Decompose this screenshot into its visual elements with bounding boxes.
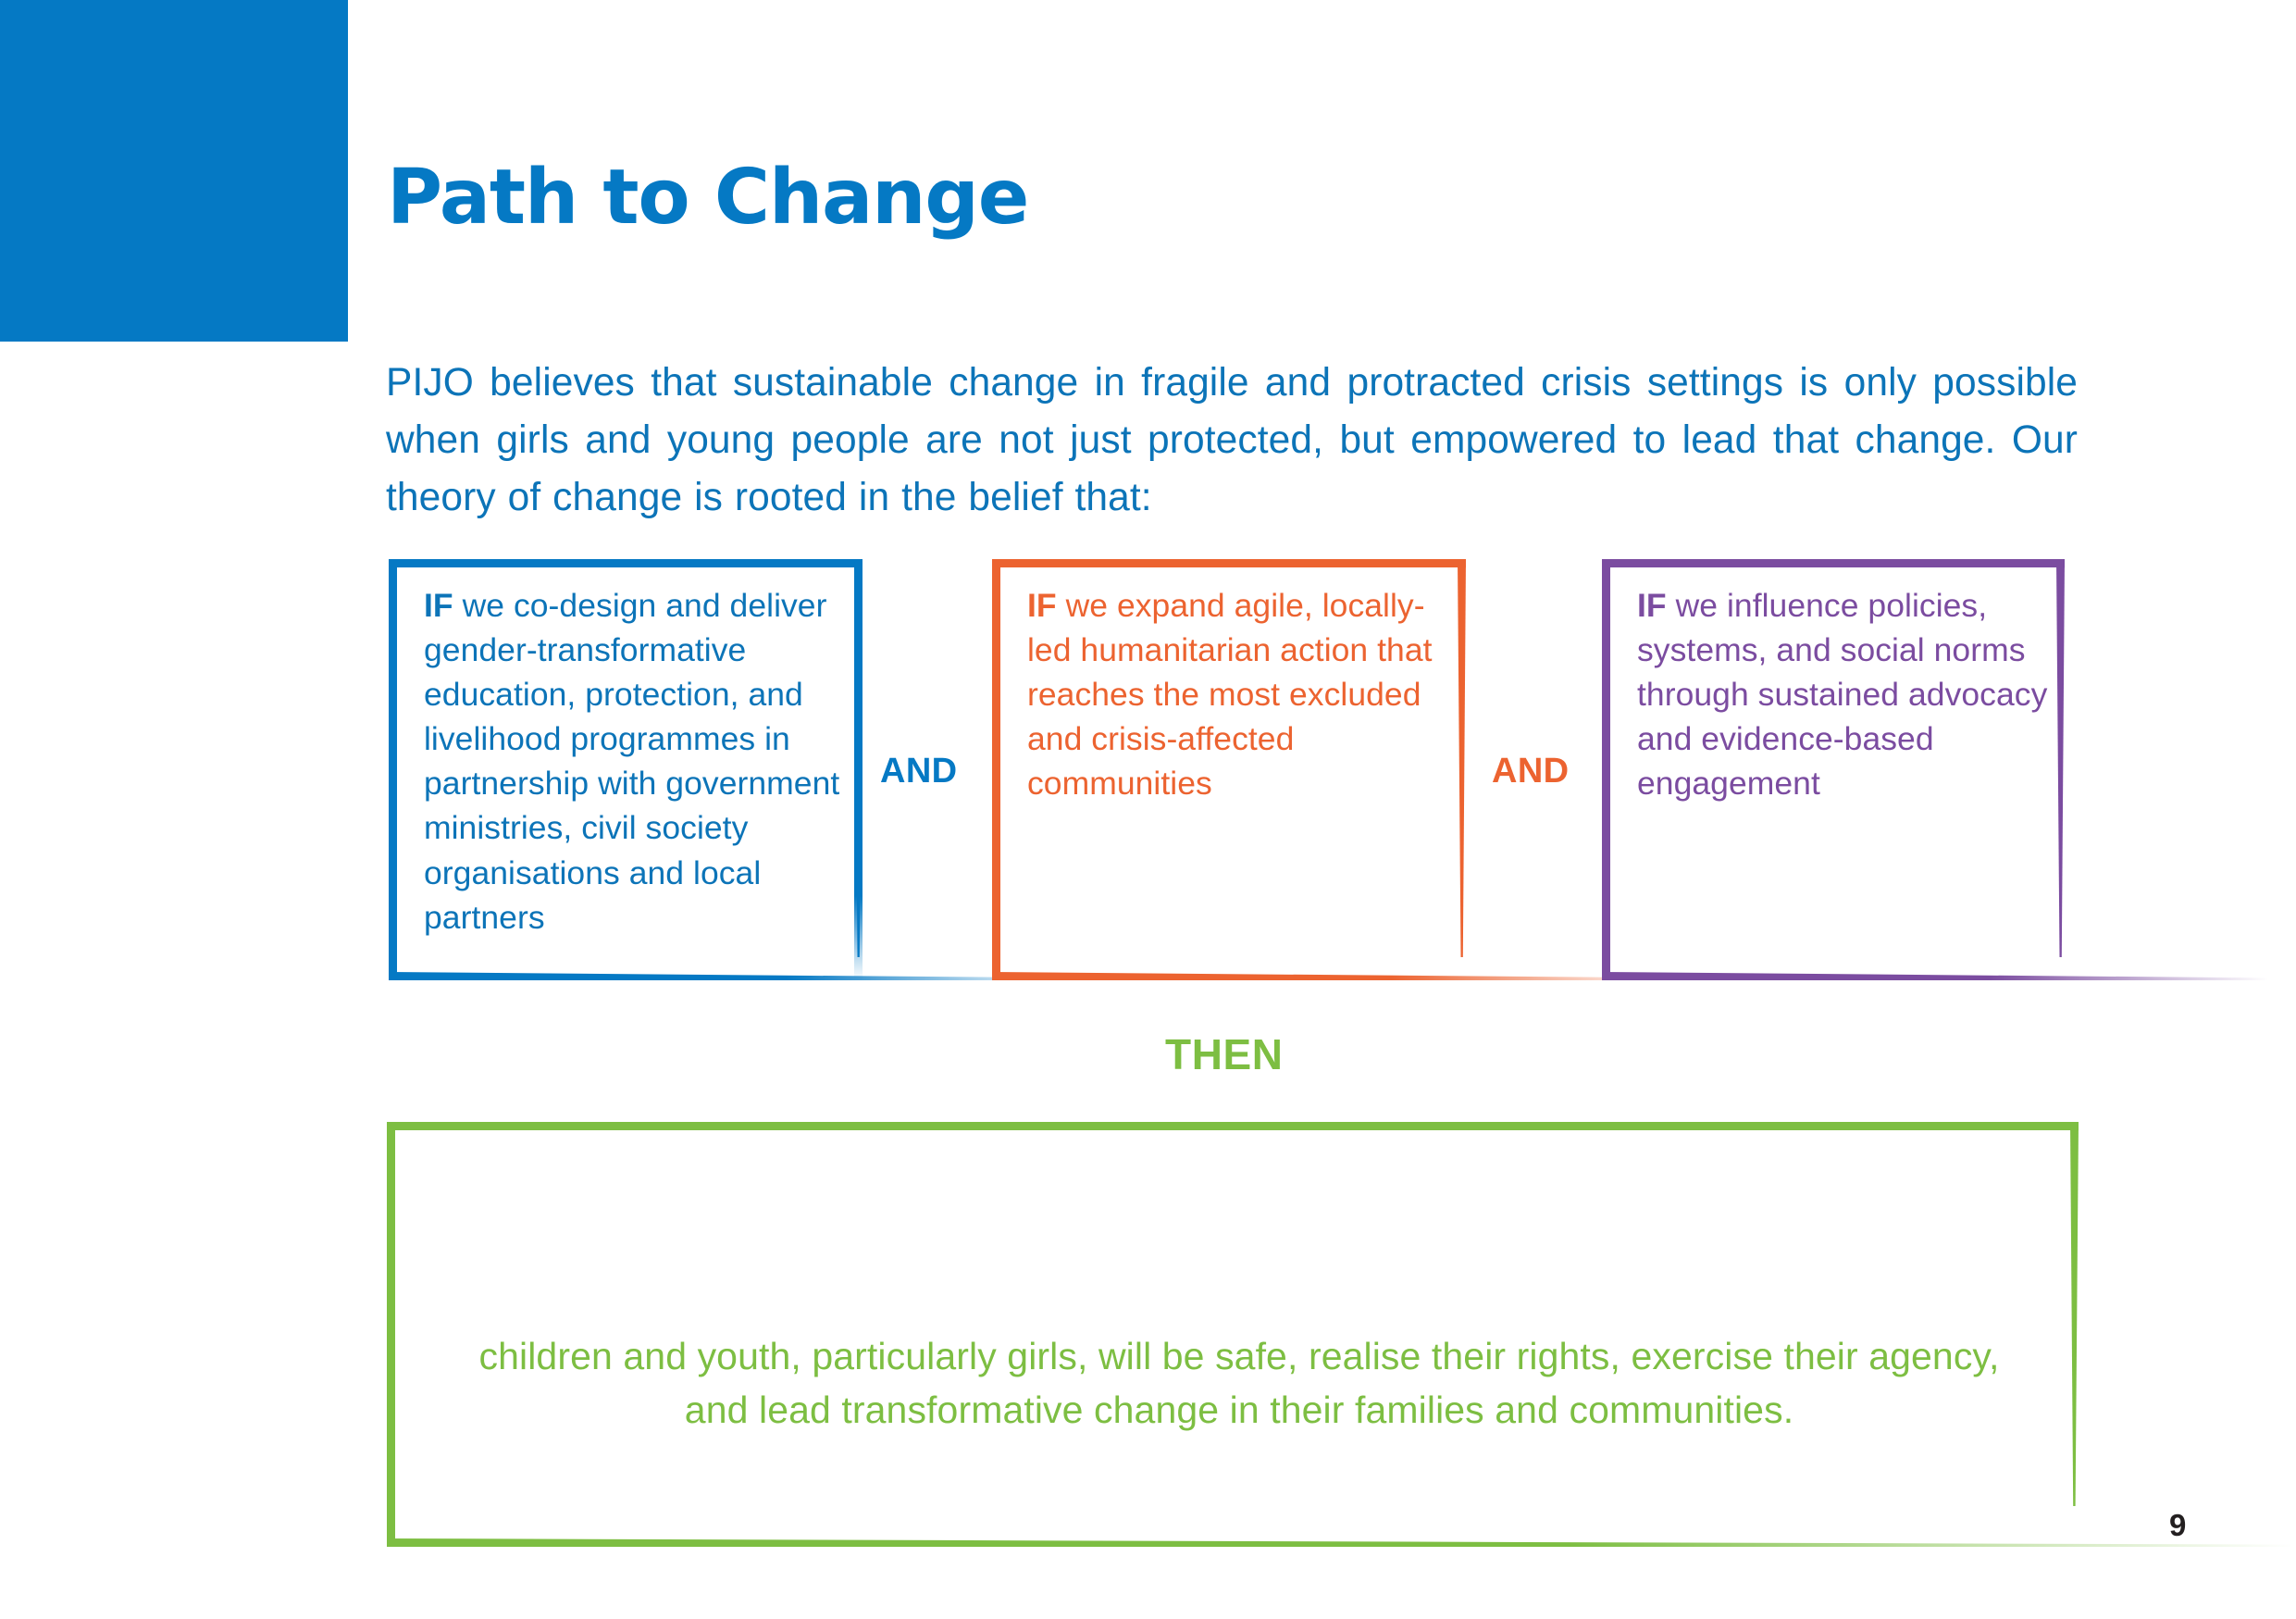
and-connector-1: AND: [880, 752, 958, 791]
then-outcome-box: children and youth, particularly girls, …: [387, 1122, 2079, 1547]
page-number: 9: [2169, 1508, 2186, 1543]
then-label: THEN: [1165, 1029, 1284, 1079]
if-conditions-row: IF we co-design and deliver gender-trans…: [0, 559, 2296, 994]
if-keyword: IF: [1637, 587, 1667, 624]
if-box-text: IF we co-design and deliver gender-trans…: [424, 583, 848, 940]
and-connector-2: AND: [1492, 752, 1570, 791]
if-box-advocacy: IF we influence policies, systems, and s…: [1602, 559, 2065, 980]
if-keyword: IF: [424, 587, 453, 624]
intro-paragraph: PIJO believes that sustainable change in…: [386, 355, 2078, 528]
if-body: we expand agile, locally-led humanitaria…: [1027, 587, 1433, 802]
if-box-text: IF we influence policies, systems, and s…: [1637, 583, 2063, 805]
if-body: we co-design and deliver gender-transfor…: [424, 587, 839, 936]
if-box-humanitarian: IF we expand agile, locally-led humanita…: [992, 559, 1466, 980]
page-title: Path to Change: [387, 160, 1028, 236]
if-box-education: IF we co-design and deliver gender-trans…: [389, 559, 863, 980]
brand-accent-square: [0, 0, 348, 342]
if-keyword: IF: [1027, 587, 1057, 624]
then-outcome-text: children and youth, particularly girls, …: [442, 1329, 2036, 1437]
if-body: we influence policies, systems, and soci…: [1637, 587, 2047, 802]
if-box-text: IF we expand agile, locally-led humanita…: [1027, 583, 1446, 805]
